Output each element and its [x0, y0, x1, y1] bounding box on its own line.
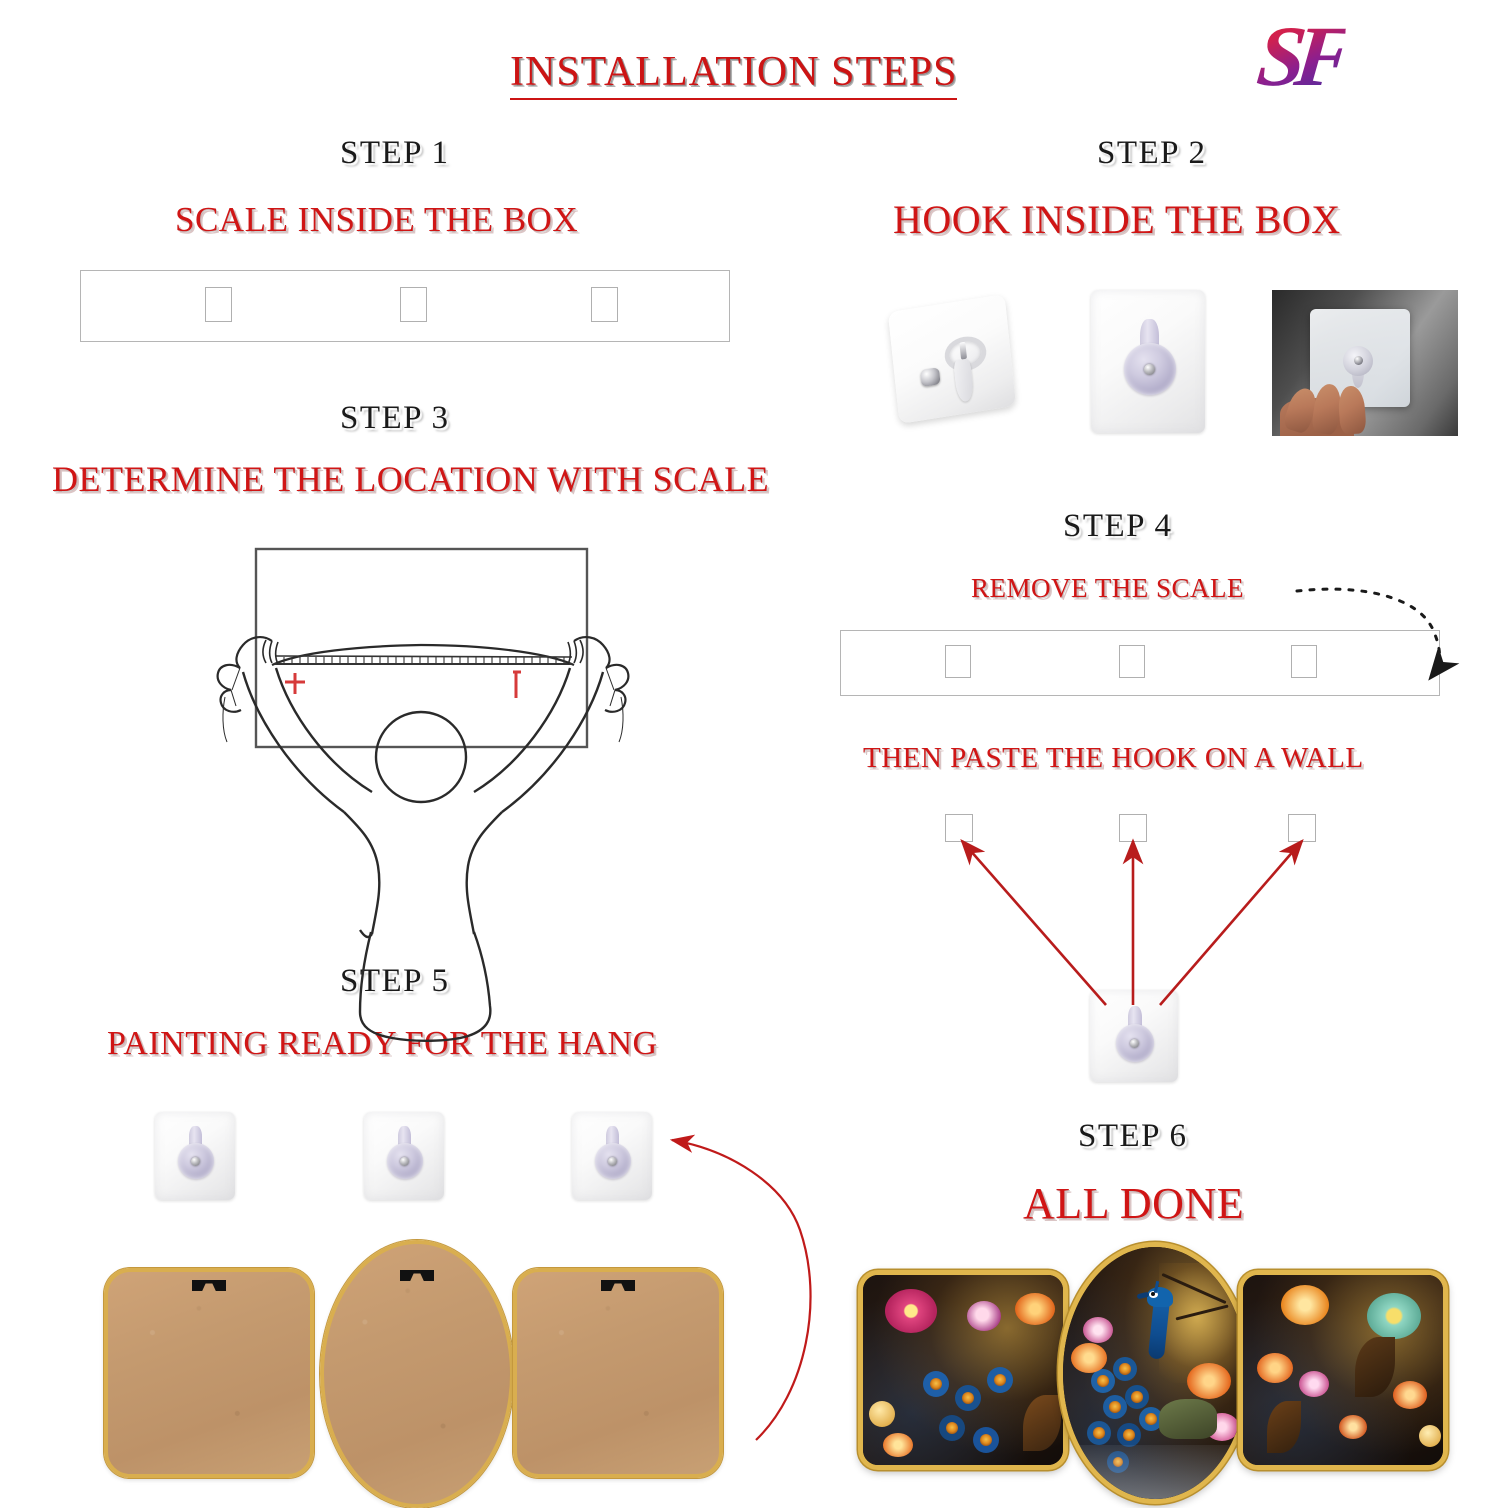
step-3-heading: DETERMINE THE LOCATION WITH SCALE: [52, 458, 769, 500]
wall-marker-square: [1288, 814, 1316, 842]
step-5-number: STEP 5: [340, 963, 450, 1000]
sawtooth-hanger-icon: [601, 1280, 635, 1291]
step-1-heading: SCALE INSIDE THE BOX: [175, 200, 578, 240]
right-hand: [574, 637, 628, 712]
scale-marker-square: [205, 287, 232, 322]
right-arm-outer: [502, 672, 603, 812]
scale-marker-square: [1119, 645, 1145, 678]
wall-marker-square: [1119, 814, 1147, 842]
step-4-number: STEP 4: [1063, 508, 1173, 545]
hook-ready-2: [364, 1112, 444, 1200]
scale-marker-square: [945, 645, 971, 678]
step-1-number: STEP 1: [340, 135, 450, 172]
mdf-board-oval: [320, 1240, 514, 1508]
step-6-heading: ALL DONE: [1023, 1178, 1244, 1229]
page-title: INSTALLATION STEPS: [510, 48, 957, 100]
art-panel-left: [858, 1270, 1068, 1470]
right-shoulder: [467, 812, 502, 934]
wall-marker-square: [945, 814, 973, 842]
hook-ready-3: [572, 1112, 652, 1200]
left-hand: [218, 637, 272, 712]
arrow-to-marker-right: [1160, 841, 1302, 1005]
arrow-to-marker-left: [962, 841, 1106, 1005]
step-4-heading: REMOVE THE SCALE: [971, 573, 1244, 604]
head: [376, 712, 466, 802]
hook-ready-1: [155, 1112, 235, 1200]
step-5-heading: PAINTING READY FOR THE HANG: [107, 1025, 658, 1063]
scale-ruler-band: [274, 656, 572, 664]
right-arm-inner: [474, 668, 570, 792]
sawtooth-hanger-icon: [192, 1280, 226, 1291]
step-2-heading: HOOK INSIDE THE BOX: [893, 196, 1341, 243]
hook-photo-front: [1091, 290, 1205, 433]
page-title-text: INSTALLATION STEPS: [510, 48, 957, 100]
mdf-board-left: [104, 1268, 314, 1478]
step-2-number: STEP 2: [1097, 135, 1207, 172]
hook-photo-tilted: [888, 294, 1016, 424]
mdf-board-right: [513, 1268, 723, 1478]
scale-marker-square: [591, 287, 618, 322]
scale-strip-step4: [840, 630, 1440, 696]
art-panel-right: [1238, 1270, 1448, 1470]
art-panel-center-peacock: [1058, 1242, 1252, 1504]
hook-on-wall: [1090, 990, 1178, 1082]
left-arm-inner: [276, 668, 372, 792]
hook-placement-arrows: [962, 841, 1302, 1005]
step-4-heading-2: THEN PASTE THE HOOK ON A WALL: [863, 742, 1364, 775]
step3-red-marks: [285, 672, 521, 698]
scale-strip-step1: [80, 270, 730, 342]
frame-outline: [256, 549, 587, 747]
hook-photo-in-hand: [1272, 290, 1458, 436]
left-arm-outer: [243, 672, 344, 812]
installation-steps-infographic: SF INSTALLATION STEPS STEP 1 SCALE INSID…: [0, 0, 1500, 1500]
sf-logo: SF: [1253, 6, 1349, 106]
step-3-number: STEP 3: [340, 400, 450, 437]
sawtooth-hanger-icon: [400, 1270, 434, 1281]
scale-marker-square: [400, 287, 427, 322]
hanging-wire: [272, 645, 574, 665]
scale-marker-square: [1291, 645, 1317, 678]
left-shoulder: [344, 812, 379, 934]
step-6-number: STEP 6: [1078, 1118, 1188, 1155]
